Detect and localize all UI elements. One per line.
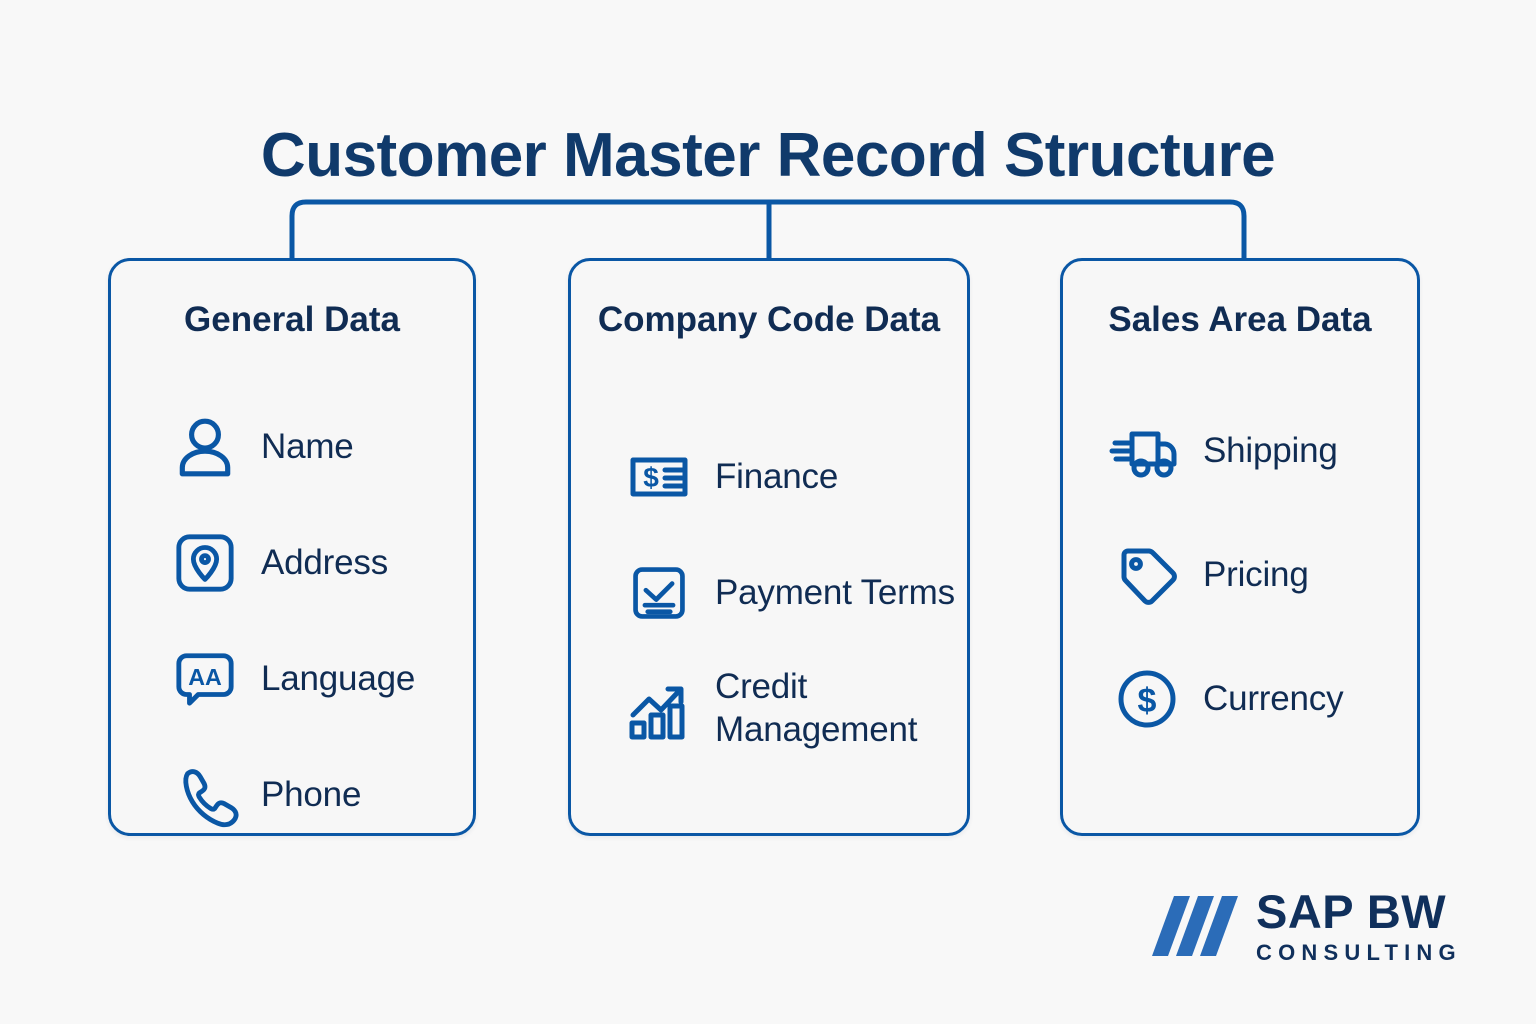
list-item-label: Pricing [1203,554,1309,597]
list-item[interactable]: AA Language [111,621,473,737]
list-item-label: Credit Management [715,666,967,751]
dollar-circle-icon: $ [1111,663,1183,735]
list-item-label: Name [261,426,354,469]
brand-logo[interactable]: SAP BW CONSULTING [1152,888,1462,964]
card-general-data[interactable]: General Data Name [108,258,476,836]
language-bubble-icon: AA [169,643,241,715]
list-item[interactable]: Name [111,389,473,505]
list-item[interactable]: Shipping [1063,389,1417,513]
list-item-label: Language [261,658,415,701]
list-item-label: Finance [715,456,838,499]
card-sales-area-data[interactable]: Sales Area Data Shipping [1060,258,1420,836]
svg-text:$: $ [643,462,659,493]
list-item[interactable]: $ Finance [571,419,967,535]
cheque-dollar-icon: $ [623,441,695,513]
page-title: Customer Master Record Structure [0,120,1536,191]
logo-primary-text: SAP BW [1256,888,1462,935]
checklist-document-icon [623,557,695,629]
map-pin-icon [169,527,241,599]
card-title: General Data [111,261,473,343]
card-title: Sales Area Data [1063,261,1417,343]
list-item[interactable]: Phone [111,737,473,853]
growth-chart-icon [623,673,695,745]
list-item[interactable]: Payment Terms [571,535,967,651]
list-item[interactable]: Address [111,505,473,621]
card-item-list: Shipping Pricing $ Curr [1063,389,1417,761]
list-item[interactable]: Credit Management [571,651,967,767]
card-item-list: $ Finance Payment [571,419,967,767]
delivery-truck-icon [1111,415,1183,487]
logo-secondary-text: CONSULTING [1256,942,1462,964]
phone-icon [169,759,241,831]
user-icon [169,411,241,483]
svg-text:AA: AA [188,664,222,690]
diagram-canvas: Customer Master Record Structure General… [0,0,1536,1024]
list-item[interactable]: Pricing [1063,513,1417,637]
list-item-label: Phone [261,774,361,817]
svg-text:$: $ [1138,682,1157,720]
list-item-label: Shipping [1203,430,1338,473]
list-item-label: Currency [1203,678,1343,721]
card-title: Company Code Data [571,261,967,343]
price-tag-icon [1111,539,1183,611]
list-item-label: Address [261,542,388,585]
card-company-code-data[interactable]: Company Code Data $ Finance [568,258,970,836]
list-item-label: Payment Terms [715,572,955,615]
list-item[interactable]: $ Currency [1063,637,1417,761]
logo-wordmark: SAP BW CONSULTING [1256,888,1462,964]
three-slashes-icon [1152,894,1238,958]
card-item-list: Name Address AA [111,389,473,853]
